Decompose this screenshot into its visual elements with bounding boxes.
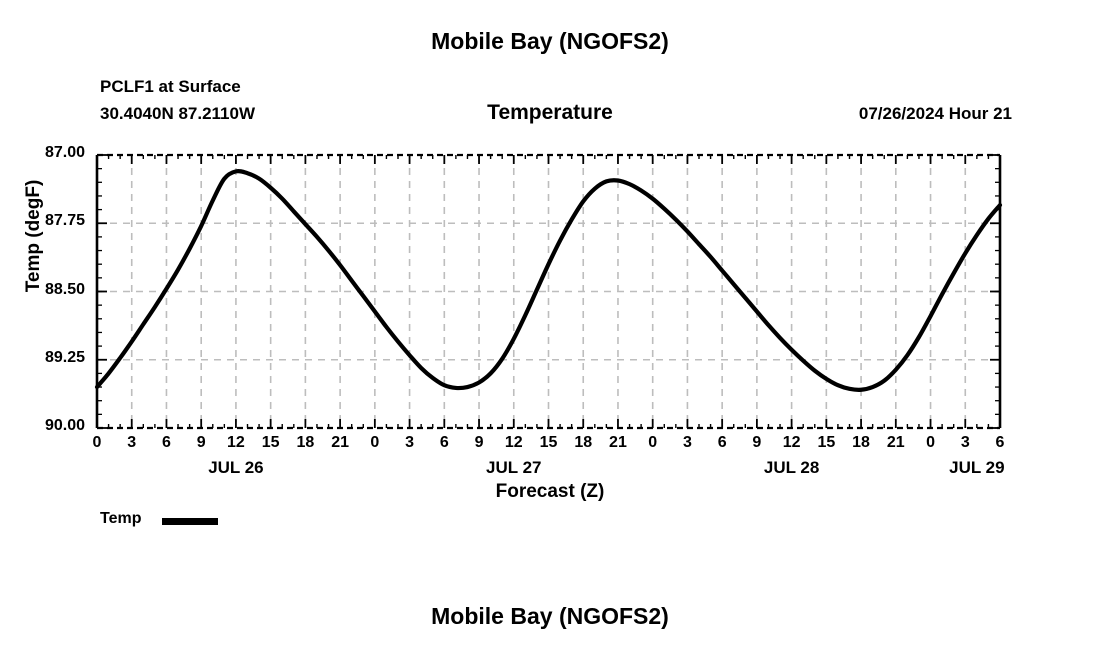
x-tick-label: 6 xyxy=(151,434,181,452)
x-tick-label: 3 xyxy=(672,434,702,452)
x-tick-label: 21 xyxy=(325,434,355,452)
y-tick-label: 89.25 xyxy=(13,349,85,367)
x-tick-label: 9 xyxy=(742,434,772,452)
x-day-label: JUL 28 xyxy=(722,458,862,478)
x-tick-label: 21 xyxy=(603,434,633,452)
x-tick-label: 6 xyxy=(707,434,737,452)
legend-swatch-temp xyxy=(162,518,218,525)
y-axis-title: Temp (degF) xyxy=(23,136,45,336)
x-tick-label: 18 xyxy=(290,434,320,452)
x-tick-label: 3 xyxy=(950,434,980,452)
x-day-label: JUL 27 xyxy=(444,458,584,478)
series-line-temp xyxy=(97,171,1000,390)
x-tick-label: 6 xyxy=(985,434,1015,452)
x-tick-label: 18 xyxy=(568,434,598,452)
x-tick-label: 6 xyxy=(429,434,459,452)
x-tick-label: 21 xyxy=(881,434,911,452)
y-tick-label: 87.00 xyxy=(13,144,85,162)
legend-label: Temp xyxy=(100,510,141,528)
x-tick-label: 0 xyxy=(916,434,946,452)
x-tick-label: 3 xyxy=(395,434,425,452)
x-tick-label: 9 xyxy=(464,434,494,452)
y-tick-label: 87.75 xyxy=(13,212,85,230)
x-tick-label: 15 xyxy=(534,434,564,452)
x-tick-label: 0 xyxy=(638,434,668,452)
x-tick-label: 15 xyxy=(811,434,841,452)
plot-area xyxy=(0,0,1100,650)
y-tick-label: 88.50 xyxy=(13,281,85,299)
temperature-line-chart xyxy=(0,0,1100,650)
y-tick-label: 90.00 xyxy=(13,417,85,435)
x-day-label: JUL 26 xyxy=(166,458,306,478)
x-tick-label: 9 xyxy=(186,434,216,452)
x-tick-label: 18 xyxy=(846,434,876,452)
x-tick-label: 0 xyxy=(360,434,390,452)
x-day-label: JUL 29 xyxy=(907,458,1047,478)
chart-page: Mobile Bay (NGOFS2) PCLF1 at Surface 30.… xyxy=(0,0,1100,650)
x-tick-label: 3 xyxy=(117,434,147,452)
x-tick-label: 12 xyxy=(221,434,251,452)
x-tick-label: 0 xyxy=(82,434,112,452)
x-tick-label: 12 xyxy=(499,434,529,452)
x-tick-label: 12 xyxy=(777,434,807,452)
x-axis-title: Forecast (Z) xyxy=(0,481,1100,503)
x-tick-label: 15 xyxy=(256,434,286,452)
gridlines xyxy=(97,155,1000,428)
footer-title: Mobile Bay (NGOFS2) xyxy=(0,603,1100,630)
